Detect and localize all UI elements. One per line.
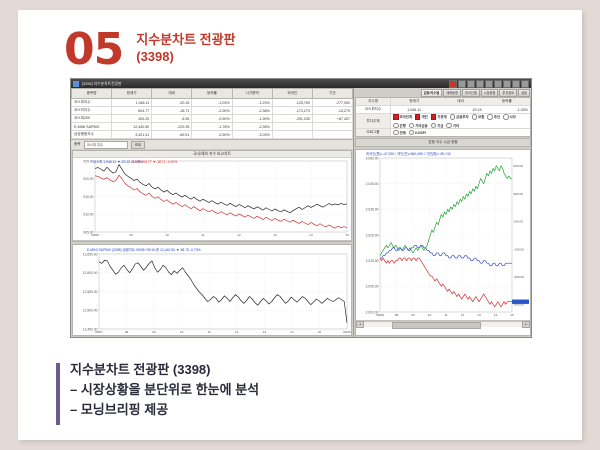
radio-other-finance[interactable]: 기타금융 (409, 123, 428, 129)
group-label: 조회그룹 (356, 129, 391, 136)
radio-trust-label: 투신 (494, 114, 500, 119)
svg-text:10: 10 (165, 233, 169, 237)
scroll-track[interactable] (364, 321, 522, 327)
slide-header: 05 지수분차트 전광판 (3398) (64, 28, 236, 72)
window-title: [3398] 지수분차트전광판 (82, 81, 122, 87)
check-icon (431, 114, 437, 120)
checkbox-individual-label: 개인 (421, 114, 427, 119)
svg-text:2,035.00: 2,035.00 (366, 208, 379, 212)
caption-line-1: 지수분차트 전광판 (3398) (70, 360, 540, 380)
col-rate: 등락률 (192, 89, 232, 99)
svg-text:100.00: 100.00 (514, 220, 524, 224)
chart1-plot: 925.00920.00915.00910.00905.0009/0809101… (73, 158, 351, 240)
cell-price: 1,946.11 (112, 99, 152, 107)
svg-text:14: 14 (290, 330, 294, 334)
index-rate: -1.03% (484, 108, 530, 112)
svg-text:12: 12 (237, 233, 241, 237)
radio-icon (450, 114, 456, 120)
search-label: 종목 (74, 142, 81, 147)
page-title: 지수분차트 전광판 (136, 31, 235, 48)
slide-header-text: 지수분차트 전광판 (3398) (136, 28, 235, 65)
index-table: 종목명 현재가 대비 등락률 시가총액 외국인 기관 코스피지수 1,946.1 (71, 88, 353, 139)
window-body: 종목명 현재가 대비 등락률 시가총액 외국인 기관 코스피지수 1,946.1 (71, 88, 531, 337)
radio-icon (446, 123, 452, 129)
right-form: 지수명 현재가 대비 등락률 코스피지수 1,946.11 -20.15 -1.… (355, 97, 531, 137)
svg-text:11: 11 (444, 313, 447, 317)
radio-icon (409, 130, 415, 136)
cell-rate: -2.90% (192, 131, 232, 139)
cell-price: 604.77 (112, 107, 152, 115)
svg-text:09: 09 (411, 313, 415, 317)
svg-text:15: 15 (510, 313, 514, 317)
checkbox-foreign[interactable]: 외국인계 (393, 114, 412, 120)
group-options: 전체 KOSPI (391, 130, 530, 136)
svg-text:10: 10 (428, 313, 432, 317)
checkbox-institution-label: 기관계 (437, 114, 446, 119)
checkbox-foreign-label: 외국인계 (400, 114, 412, 119)
table-row[interactable]: 코스피200 400.20 -5.55 -0.90% -1.90% -291,2… (72, 115, 353, 123)
cell-foreign: -173,273 (272, 107, 312, 115)
svg-text:2,045.00: 2,045.00 (366, 182, 379, 186)
svg-text:2,025.00: 2,025.00 (366, 233, 379, 237)
radio-etc-label: 기타 (453, 123, 459, 128)
form-col-rate: 등락률 (484, 99, 530, 104)
svg-text:09/16: 09/16 (343, 330, 351, 334)
check-icon (415, 114, 421, 120)
index-change: -20.15 (437, 108, 483, 112)
chart2-plot: 12,650.0012,600.0012,550.0012,500.0012,4… (73, 251, 351, 336)
close-button[interactable] (521, 80, 529, 88)
table-row[interactable]: 코스닥지수 604.77 -18.71 -2.00% -2.38% -173,2… (72, 107, 353, 115)
svg-text:12,550.00: 12,550.00 (83, 290, 98, 294)
svg-text:14: 14 (494, 313, 498, 317)
radio-bank[interactable]: 은행 (393, 123, 406, 129)
svg-text:08: 08 (395, 313, 399, 317)
section-title: 업종 지수 수급 현황 (355, 138, 531, 147)
svg-text:15: 15 (345, 233, 349, 237)
table-header-row: 종목명 현재가 대비 등락률 시가총액 외국인 기관 (72, 89, 353, 99)
investor-label: 투자주체 (356, 114, 391, 128)
checkbox-institution[interactable]: 기관계 (431, 114, 447, 120)
svg-text:12,600.00: 12,600.00 (83, 271, 98, 275)
svg-text:12,650.00: 12,650.00 (83, 252, 98, 256)
cell-foreign (272, 123, 312, 131)
svg-text:2,015.00: 2,015.00 (366, 259, 379, 263)
tab-index-sector[interactable]: 업종/지수별 (421, 89, 443, 97)
page-code: (3398) (136, 48, 235, 65)
scroll-right-icon[interactable]: ▸ (343, 241, 351, 243)
radio-etc[interactable]: 기타 (446, 123, 459, 129)
radio-other-finance-label: 기타금융 (415, 123, 427, 128)
radio-icon (472, 114, 478, 120)
radio-finance-label: 금융투자 (456, 114, 468, 119)
svg-text:-300.00: -300.00 (514, 275, 525, 279)
left-pane: 종목명 현재가 대비 등락률 시가총액 외국인 기관 코스피지수 1,946.1 (71, 88, 354, 337)
tab-trade-trend[interactable]: 매매동향 (443, 89, 461, 97)
chart1-legend-kosdaq: 코스닥 604.77 ▼-18.71 -2.00% (131, 159, 177, 164)
svg-text:-100.00: -100.00 (514, 247, 525, 251)
cell-change: -229.35 (152, 123, 192, 131)
slide: 05 지수분차트 전광판 (3398) [3398] 지수분차트전광판 (18, 10, 582, 440)
svg-text:12: 12 (235, 330, 239, 334)
scroll-track[interactable] (81, 241, 343, 242)
chart1-title: 국내/해외 지수 비교차트 (73, 151, 351, 158)
minimize-button[interactable] (503, 80, 511, 88)
toolbar-icon-5[interactable] (494, 80, 502, 88)
radio-icon (487, 114, 493, 120)
cell-change: -5.55 (152, 115, 192, 123)
tab-foreign[interactable]: 외국인별 (462, 89, 480, 97)
window-controls (449, 80, 529, 88)
svg-text:12,500.00: 12,500.00 (83, 309, 98, 313)
checkbox-individual[interactable]: 개인 (415, 114, 428, 120)
tab-market-total[interactable]: 시장종합 (481, 89, 499, 97)
radio-group-kospi[interactable]: KOSPI (409, 130, 426, 136)
caption-line-2: – 시장상황을 분단위로 한눈에 분석 (70, 380, 540, 400)
chart3-scrollbar[interactable]: ◂ ▸ (356, 320, 530, 327)
cell-inst (312, 131, 352, 139)
cell-price: 400.20 (112, 115, 152, 123)
form-investor-row: 투자주체 외국인계 개인 기관계 금융투자 보험 투신 사모 은행 기타금융 기… (356, 114, 530, 129)
window-titlebar: [3398] 지수분차트전광판 (71, 79, 531, 88)
radio-icon (431, 123, 437, 129)
svg-text:11: 11 (201, 233, 204, 237)
chart3-legend: 외국인(원)=-47,250 / 개인(천)=560,455 / 기관(원)=-… (366, 151, 451, 156)
svg-text:09: 09 (129, 233, 133, 237)
cell-inst: -277,092 (312, 99, 352, 107)
svg-text:09/08: 09/08 (376, 313, 384, 317)
chart-emini-sp500: E-MINI S&P500 (3398) 일봉차트 09/08~09/15 종 … (72, 244, 352, 336)
radio-insurance-label: 보험 (478, 114, 484, 119)
maximize-button[interactable] (512, 80, 520, 88)
chart-index-compare: 국내/해외 지수 비교차트 코스피 1,946.11 ▼-20.15 -1.03… (72, 150, 352, 242)
search-input[interactable]: 코스피 지수 (84, 141, 128, 149)
svg-text:11: 11 (208, 330, 211, 334)
radio-bank-label: 은행 (400, 123, 406, 128)
radio-finance[interactable]: 금융투자 (450, 114, 469, 120)
radio-icon (409, 123, 415, 129)
tab-invest-info[interactable]: 투자정보 (499, 89, 517, 97)
chart-investor-flow: 외국인(원)=-47,250 / 개인(천)=560,455 / 기관(원)=-… (355, 149, 531, 336)
slide-number: 05 (64, 28, 123, 72)
col-change: 대비 (152, 89, 192, 99)
radio-icon (393, 130, 399, 136)
svg-text:12: 12 (461, 313, 465, 317)
col-cap: 시가총액 (232, 89, 272, 99)
index-name-value: 코스피지수 (356, 106, 391, 113)
cell-foreign: -291,230 (272, 115, 312, 123)
radio-fund-label: 기금 (437, 123, 443, 128)
scroll-left-icon[interactable]: ◂ (356, 321, 364, 328)
svg-text:500.00: 500.00 (514, 164, 524, 168)
table-row[interactable]: E-MINI S&P500 12,440.50 -229.35 -1.78% -… (72, 123, 353, 131)
cell-price: 12,440.50 (112, 123, 152, 131)
cell-inst: +87,407 (312, 115, 352, 123)
cell-cap: -2.38% (232, 107, 272, 115)
form-index-row[interactable]: 코스피지수 1,946.11 -20.15 -1.03% (356, 106, 530, 114)
index-price: 1,946.11 (391, 108, 437, 112)
svg-text:14: 14 (309, 233, 313, 237)
svg-text:910.00: 910.00 (83, 213, 93, 217)
radio-icon (393, 123, 399, 129)
toolbar-icon-1[interactable] (458, 80, 466, 88)
app-window: [3398] 지수분차트전광판 종목명 (70, 78, 532, 338)
svg-text:300.00: 300.00 (514, 192, 524, 196)
caption-accent-bar (56, 363, 60, 425)
cell-name: E-MINI S&P500 (72, 123, 112, 131)
svg-text:08: 08 (125, 330, 129, 334)
search-bar: 종목 코스피 지수 조회 (71, 139, 353, 149)
cell-cap: -1.23% (232, 99, 272, 107)
right-tabs: 업종/지수별 매매동향 외국인별 시장종합 투자정보 설정 (354, 88, 532, 97)
radio-fund[interactable]: 기금 (431, 123, 444, 129)
table-row[interactable]: 코스피지수 1,946.11 -20.15 -1.03% -1.23% -125… (72, 99, 353, 107)
scroll-right-icon[interactable]: ▸ (522, 321, 530, 328)
svg-text:09/07: 09/07 (95, 330, 103, 334)
cell-foreign (272, 131, 312, 139)
col-name: 종목명 (72, 89, 112, 99)
radio-insurance[interactable]: 보험 (472, 114, 485, 120)
svg-text:13: 13 (477, 313, 481, 317)
cell-name: 코스닥지수 (72, 107, 112, 115)
svg-text:920.00: 920.00 (83, 177, 93, 181)
radio-group-kospi-label: KOSPI (415, 131, 426, 135)
cell-cap: -1.90% (232, 115, 272, 123)
chart3-plot: 2,050.002,045.002,035.002,025.002,015.00… (356, 155, 530, 320)
check-icon (393, 114, 399, 120)
investor-options: 외국인계 개인 기관계 금융투자 보험 투신 사모 은행 기타금융 기금 기타 (391, 114, 530, 128)
svg-text:2,050.00: 2,050.00 (366, 156, 379, 160)
pin-icon[interactable] (449, 80, 457, 88)
svg-text:15: 15 (318, 330, 322, 334)
caption-block: 지수분차트 전광판 (3398) – 시장상황을 분단위로 한눈에 분석 – 모… (70, 360, 540, 420)
cell-change: -69.51 (152, 131, 192, 139)
app-icon (73, 81, 79, 87)
cell-name: 삼성종합지수 (72, 131, 112, 139)
toolbar-icon-2[interactable] (467, 80, 475, 88)
cell-cap: -2.35% (232, 123, 272, 131)
radio-trust[interactable]: 투신 (487, 114, 500, 120)
radio-group-all-label: 전체 (400, 130, 406, 135)
cell-rate: -0.90% (192, 115, 232, 123)
svg-text:09/08: 09/08 (91, 233, 99, 237)
svg-text:13: 13 (263, 330, 267, 334)
form-col-change: 대비 (437, 99, 483, 104)
form-group-row: 조회그룹 전체 KOSPI (356, 129, 530, 136)
tab-settings[interactable]: 설정 (518, 89, 530, 97)
radio-private-label: 사모 (510, 114, 516, 119)
radio-icon (503, 114, 509, 120)
cell-change: -18.71 (152, 107, 192, 115)
cell-price: 3,421.41 (112, 131, 152, 139)
form-col-price: 현재가 (391, 99, 437, 104)
scroll-left-icon[interactable]: ◂ (73, 241, 81, 243)
svg-text:09: 09 (152, 330, 156, 334)
svg-text:915.00: 915.00 (83, 195, 93, 199)
scroll-thumb[interactable] (392, 322, 481, 329)
cell-rate: -2.00% (192, 107, 232, 115)
toolbar-icon-3[interactable] (476, 80, 484, 88)
svg-text:13: 13 (273, 233, 277, 237)
radio-group-all[interactable]: 전체 (393, 130, 406, 136)
cell-foreign: -125,759 (272, 99, 312, 107)
cell-change: -20.15 (152, 99, 192, 107)
svg-text:2,005.00: 2,005.00 (366, 285, 379, 289)
form-col-index: 지수명 (356, 98, 391, 105)
chart2-legend: E-MINI S&P500 (3398) 일봉차트 09/08~09/15 종 … (87, 247, 201, 252)
cell-inst: -13,279 (312, 107, 352, 115)
cell-inst (312, 123, 352, 131)
cell-cap: -3.03% (232, 131, 272, 139)
toolbar-icon-4[interactable] (485, 80, 493, 88)
form-header-row: 지수명 현재가 대비 등락률 (356, 98, 530, 106)
chart1-scrollbar[interactable]: ◂ ▸ (73, 240, 351, 242)
right-pane: 업종/지수별 매매동향 외국인별 시장종합 투자정보 설정 지수명 현재가 대비… (354, 88, 532, 337)
search-button[interactable]: 조회 (131, 141, 145, 149)
svg-text:10: 10 (180, 330, 184, 334)
col-price: 현재가 (112, 89, 152, 99)
table-row[interactable]: 삼성종합지수 3,421.41 -69.51 -2.90% -3.03% (72, 131, 353, 139)
cell-rate: -1.78% (192, 123, 232, 131)
col-foreign: 외국인 (272, 89, 312, 99)
col-inst: 기관 (312, 89, 352, 99)
cell-name: 코스피지수 (72, 99, 112, 107)
cell-name: 코스피200 (72, 115, 112, 123)
caption-line-3: – 모닝브리핑 제공 (70, 400, 540, 420)
radio-private[interactable]: 사모 (503, 114, 516, 120)
cell-rate: -1.03% (192, 99, 232, 107)
